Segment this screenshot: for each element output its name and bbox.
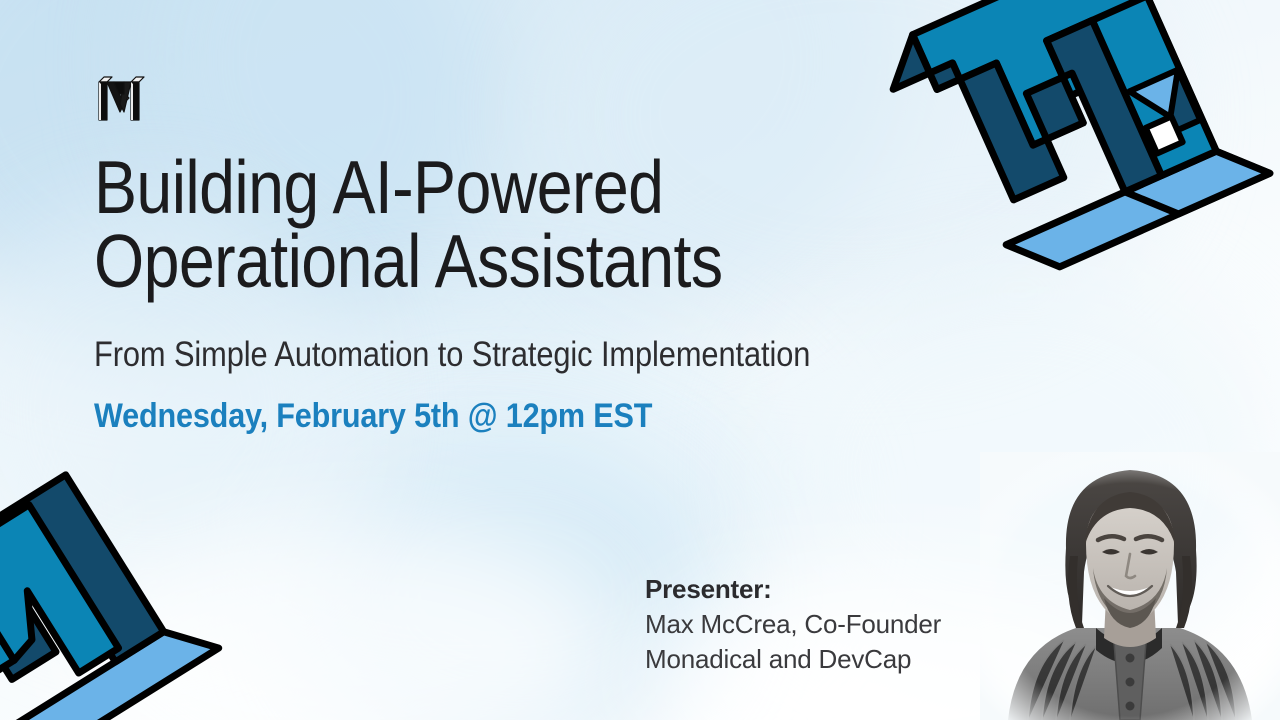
event-datetime: Wednesday, February 5th @ 12pm EST	[94, 375, 886, 436]
isometric-m-logo-bottom-left-icon	[0, 478, 212, 720]
presenter-block: Presenter: Max McCrea, Co-Founder Monadi…	[645, 572, 985, 677]
presenter-photo	[980, 452, 1280, 720]
presenter-label: Presenter:	[645, 572, 985, 607]
monadical-logo-icon	[95, 72, 147, 126]
title-line-1: Building AI-Powered	[94, 145, 663, 229]
subtitle: From Simple Automation to Strategic Impl…	[94, 299, 868, 375]
presenter-name: Max McCrea, Co-Founder	[645, 607, 985, 642]
slide-text-column: Building AI-Powered Operational Assistan…	[94, 150, 974, 436]
isometric-m-logo-top-right-icon	[942, 0, 1280, 334]
presenter-organization: Monadical and DevCap	[645, 642, 985, 677]
webinar-slide: Building AI-Powered Operational Assistan…	[0, 0, 1280, 720]
title-line-2: Operational Assistants	[94, 224, 851, 298]
page-title: Building AI-Powered Operational Assistan…	[94, 150, 851, 299]
